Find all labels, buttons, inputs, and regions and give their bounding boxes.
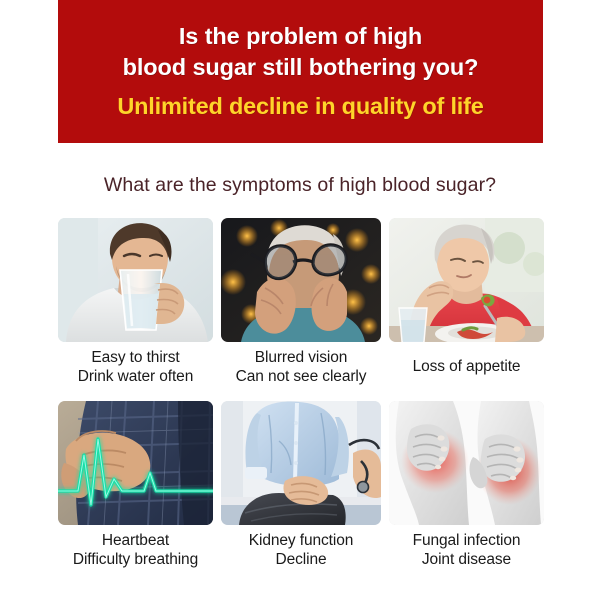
section-subtitle: What are the symptoms of high blood suga… xyxy=(0,172,600,198)
symptom-cell-kidney: Kidney function Decline xyxy=(217,401,385,569)
symptom-caption-blurred-vision: Blurred vision Can not see clearly xyxy=(236,348,367,386)
caption-line-1: Fungal infection xyxy=(413,531,521,550)
symptom-cell-appetite: Loss of appetite xyxy=(389,218,544,376)
banner-headline-line-1: Is the problem of high xyxy=(179,21,422,51)
symptom-cell-joints: Fungal infection Joint disease xyxy=(389,401,544,569)
symptom-cell-thirst: Easy to thirst Drink water often xyxy=(58,218,213,386)
caption-line-1: Blurred vision xyxy=(236,348,367,367)
caption-line-2: Decline xyxy=(249,550,354,569)
caption-line-1: Easy to thirst xyxy=(78,348,193,367)
symptom-cell-blurred-vision: Blurred vision Can not see clearly xyxy=(217,218,385,386)
symptom-caption-kidney: Kidney function Decline xyxy=(249,531,354,569)
caption-line-1: Heartbeat xyxy=(73,531,198,550)
symptom-cell-heartbeat: Heartbeat Difficulty breathing xyxy=(58,401,213,569)
man-drinking-water-photo xyxy=(58,218,213,342)
banner-headline-line-2: blood sugar still bothering you? xyxy=(123,52,479,82)
patient-with-doctor-photo xyxy=(221,401,381,525)
caption-line-2: Joint disease xyxy=(413,550,521,569)
symptom-caption-heartbeat: Heartbeat Difficulty breathing xyxy=(73,531,198,569)
caption-line-2: Difficulty breathing xyxy=(73,550,198,569)
symptom-caption-appetite: Loss of appetite xyxy=(413,357,521,376)
caption-line-1: Loss of appetite xyxy=(413,357,521,376)
banner-highlight-text: Unlimited decline in quality of life xyxy=(117,91,483,121)
symptom-caption-joints: Fungal infection Joint disease xyxy=(413,531,521,569)
symptom-caption-thirst: Easy to thirst Drink water often xyxy=(78,348,193,386)
symptom-row-2: Heartbeat Difficulty breathing xyxy=(58,401,544,569)
man-removing-glasses-photo xyxy=(221,218,381,342)
symptom-row-1: Easy to thirst Drink water often xyxy=(58,218,544,386)
chest-pain-ecg-photo xyxy=(58,401,213,525)
caption-line-1: Kidney function xyxy=(249,531,354,550)
caption-line-2: Drink water often xyxy=(78,367,193,386)
inflamed-knee-joints-photo xyxy=(389,401,544,525)
symptom-grid: Easy to thirst Drink water often xyxy=(58,218,544,569)
woman-no-appetite-photo xyxy=(389,218,544,342)
caption-line-2: Can not see clearly xyxy=(236,367,367,386)
promo-banner: Is the problem of high blood sugar still… xyxy=(58,0,543,143)
